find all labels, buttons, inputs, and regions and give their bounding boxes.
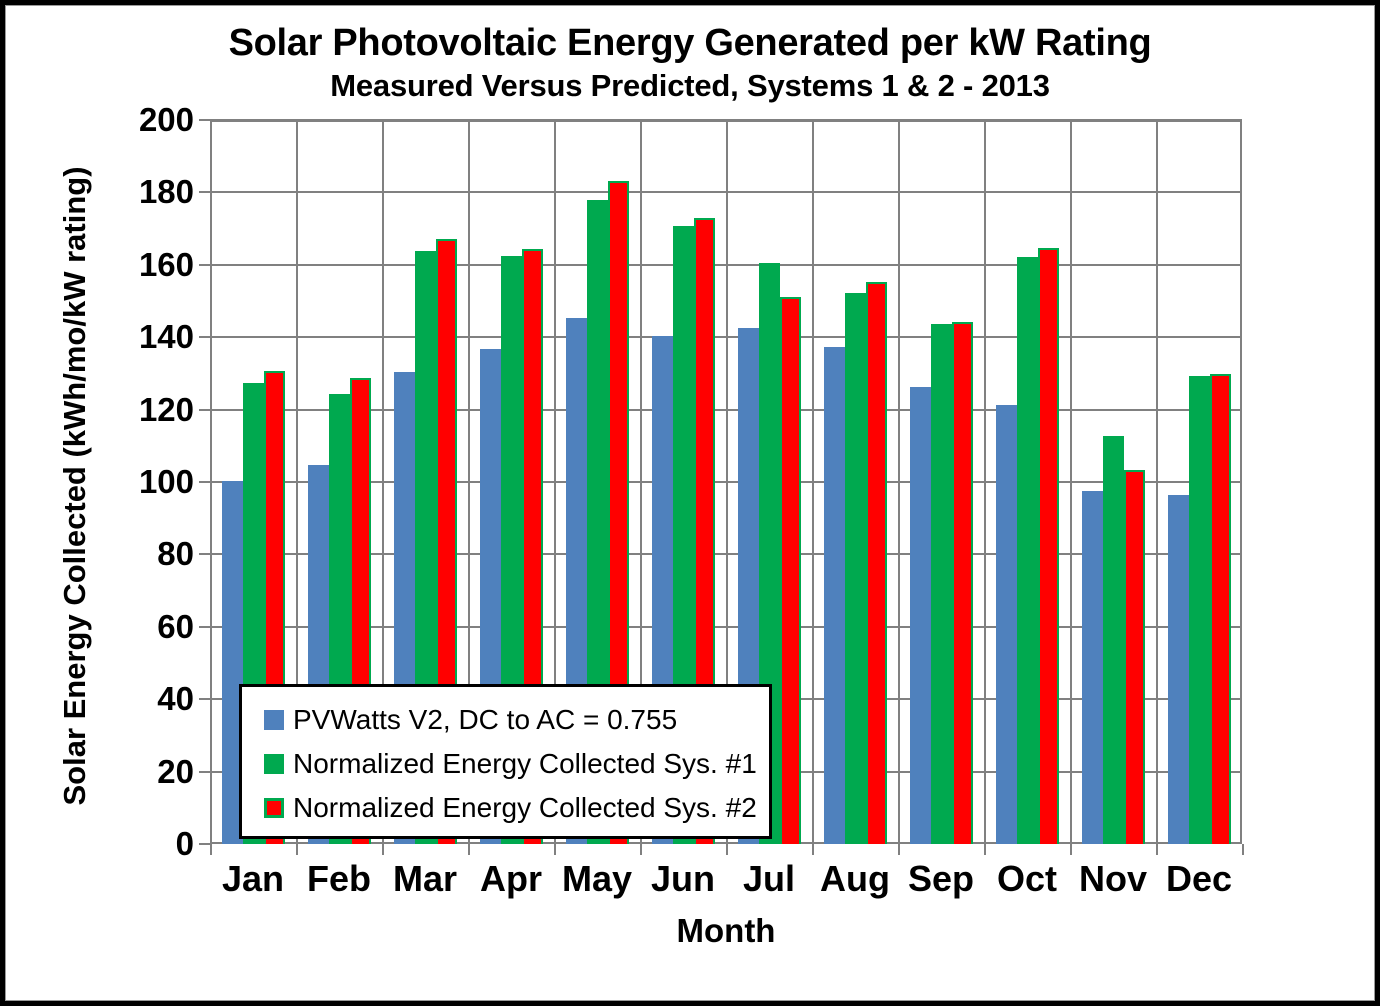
x-axis-label-aug: Aug bbox=[812, 858, 898, 900]
y-axis-tick-mark bbox=[199, 771, 210, 773]
x-axis-label-dec: Dec bbox=[1156, 858, 1242, 900]
y-axis-tick-label: 180 bbox=[139, 173, 194, 211]
chart-subtitle: Measured Versus Predicted, Systems 1 & 2… bbox=[6, 68, 1374, 104]
x-axis-tick-mark bbox=[382, 844, 384, 855]
x-axis-tick-mark bbox=[812, 844, 814, 855]
bar-jul-series3[interactable] bbox=[780, 297, 801, 844]
y-axis-tick-label: 20 bbox=[157, 753, 194, 791]
legend-label-series3: Normalized Energy Collected Sys. #2 bbox=[293, 792, 757, 824]
x-axis-tick-mark bbox=[726, 844, 728, 855]
x-axis-tick-mark bbox=[554, 844, 556, 855]
y-axis-tick-label: 80 bbox=[157, 535, 194, 573]
bar-group bbox=[812, 120, 898, 844]
y-axis-tick-label: 200 bbox=[139, 101, 194, 139]
title-block: Solar Photovoltaic Energy Generated per … bbox=[6, 24, 1374, 104]
y-axis-tick-label: 140 bbox=[139, 318, 194, 356]
y-axis-tick-mark bbox=[199, 336, 210, 338]
legend-swatch-series2 bbox=[264, 754, 284, 774]
bar-oct-series3[interactable] bbox=[1038, 248, 1059, 844]
chart-title: Solar Photovoltaic Energy Generated per … bbox=[6, 24, 1374, 64]
x-axis-tick-mark bbox=[296, 844, 298, 855]
x-axis-label-jun: Jun bbox=[640, 858, 726, 900]
bar-aug-series1[interactable] bbox=[824, 347, 845, 844]
bar-dec-series1[interactable] bbox=[1168, 495, 1189, 844]
y-axis-title-wrapper: Solar Energy Collected (kWh/mo/kW rating… bbox=[52, 116, 98, 856]
bar-group bbox=[1070, 120, 1156, 844]
legend-label-series1: PVWatts V2, DC to AC = 0.755 bbox=[293, 704, 677, 736]
x-axis-labels: JanFebMarAprMayJunJulAugSepOctNovDec bbox=[210, 858, 1242, 900]
x-axis-tick-mark bbox=[640, 844, 642, 855]
x-axis-tick-mark bbox=[1070, 844, 1072, 855]
x-axis-label-may: May bbox=[554, 858, 640, 900]
legend-swatch-series1 bbox=[264, 710, 284, 730]
chart-frame: Solar Photovoltaic Energy Generated per … bbox=[0, 0, 1380, 1006]
bar-nov-series1[interactable] bbox=[1082, 491, 1103, 844]
x-axis-tick-mark bbox=[984, 844, 986, 855]
bar-group bbox=[984, 120, 1070, 844]
y-axis-tick-mark bbox=[199, 264, 210, 266]
y-axis-tick-label: 60 bbox=[157, 608, 194, 646]
y-axis-tick-mark bbox=[199, 409, 210, 411]
y-axis-tick-mark bbox=[199, 843, 210, 845]
legend: PVWatts V2, DC to AC = 0.755 Normalized … bbox=[239, 684, 772, 839]
legend-item[interactable]: PVWatts V2, DC to AC = 0.755 bbox=[264, 698, 769, 742]
legend-swatch-series3 bbox=[264, 798, 284, 818]
bar-group bbox=[1156, 120, 1242, 844]
x-axis-tick-mark bbox=[1242, 844, 1244, 855]
y-axis-tick-mark bbox=[199, 481, 210, 483]
y-axis-tick-mark bbox=[199, 119, 210, 121]
legend-item[interactable]: Normalized Energy Collected Sys. #1 bbox=[264, 742, 769, 786]
legend-item[interactable]: Normalized Energy Collected Sys. #2 bbox=[264, 786, 769, 830]
bar-dec-series3[interactable] bbox=[1210, 374, 1231, 844]
y-axis-tick-mark bbox=[199, 191, 210, 193]
x-axis-title: Month bbox=[210, 912, 1242, 950]
y-axis-tick-label: 160 bbox=[139, 246, 194, 284]
bar-sep-series3[interactable] bbox=[952, 322, 973, 844]
y-axis-tick-label: 120 bbox=[139, 391, 194, 429]
x-axis-label-sep: Sep bbox=[898, 858, 984, 900]
legend-label-series2: Normalized Energy Collected Sys. #1 bbox=[293, 748, 757, 780]
x-axis-label-nov: Nov bbox=[1070, 858, 1156, 900]
x-axis-label-jan: Jan bbox=[210, 858, 296, 900]
y-axis-tick-mark bbox=[199, 626, 210, 628]
y-axis-tick-label: 0 bbox=[176, 825, 194, 863]
y-axis-tick-mark bbox=[199, 698, 210, 700]
bar-aug-series2[interactable] bbox=[845, 293, 866, 844]
x-axis-label-oct: Oct bbox=[984, 858, 1070, 900]
y-axis-title: Solar Energy Collected (kWh/mo/kW rating… bbox=[57, 166, 93, 805]
x-axis-tick-mark bbox=[210, 844, 212, 855]
bar-oct-series1[interactable] bbox=[996, 405, 1017, 844]
x-axis-label-feb: Feb bbox=[296, 858, 382, 900]
bar-dec-series2[interactable] bbox=[1189, 376, 1210, 844]
bar-sep-series1[interactable] bbox=[910, 387, 931, 844]
y-axis-tick-mark bbox=[199, 553, 210, 555]
x-axis-label-mar: Mar bbox=[382, 858, 468, 900]
bar-group bbox=[898, 120, 984, 844]
x-axis-label-apr: Apr bbox=[468, 858, 554, 900]
x-axis-tick-mark bbox=[898, 844, 900, 855]
bar-nov-series2[interactable] bbox=[1103, 436, 1124, 844]
bar-oct-series2[interactable] bbox=[1017, 257, 1038, 844]
chart-canvas: Solar Photovoltaic Energy Generated per … bbox=[5, 5, 1375, 1001]
bar-sep-series2[interactable] bbox=[931, 324, 952, 844]
y-axis-tick-label: 40 bbox=[157, 680, 194, 718]
x-axis-label-jul: Jul bbox=[726, 858, 812, 900]
x-axis-tick-mark bbox=[468, 844, 470, 855]
bar-nov-series3[interactable] bbox=[1124, 470, 1145, 844]
x-axis-tick-mark bbox=[1156, 844, 1158, 855]
y-axis-tick-label: 100 bbox=[139, 463, 194, 501]
bar-aug-series3[interactable] bbox=[866, 282, 887, 844]
